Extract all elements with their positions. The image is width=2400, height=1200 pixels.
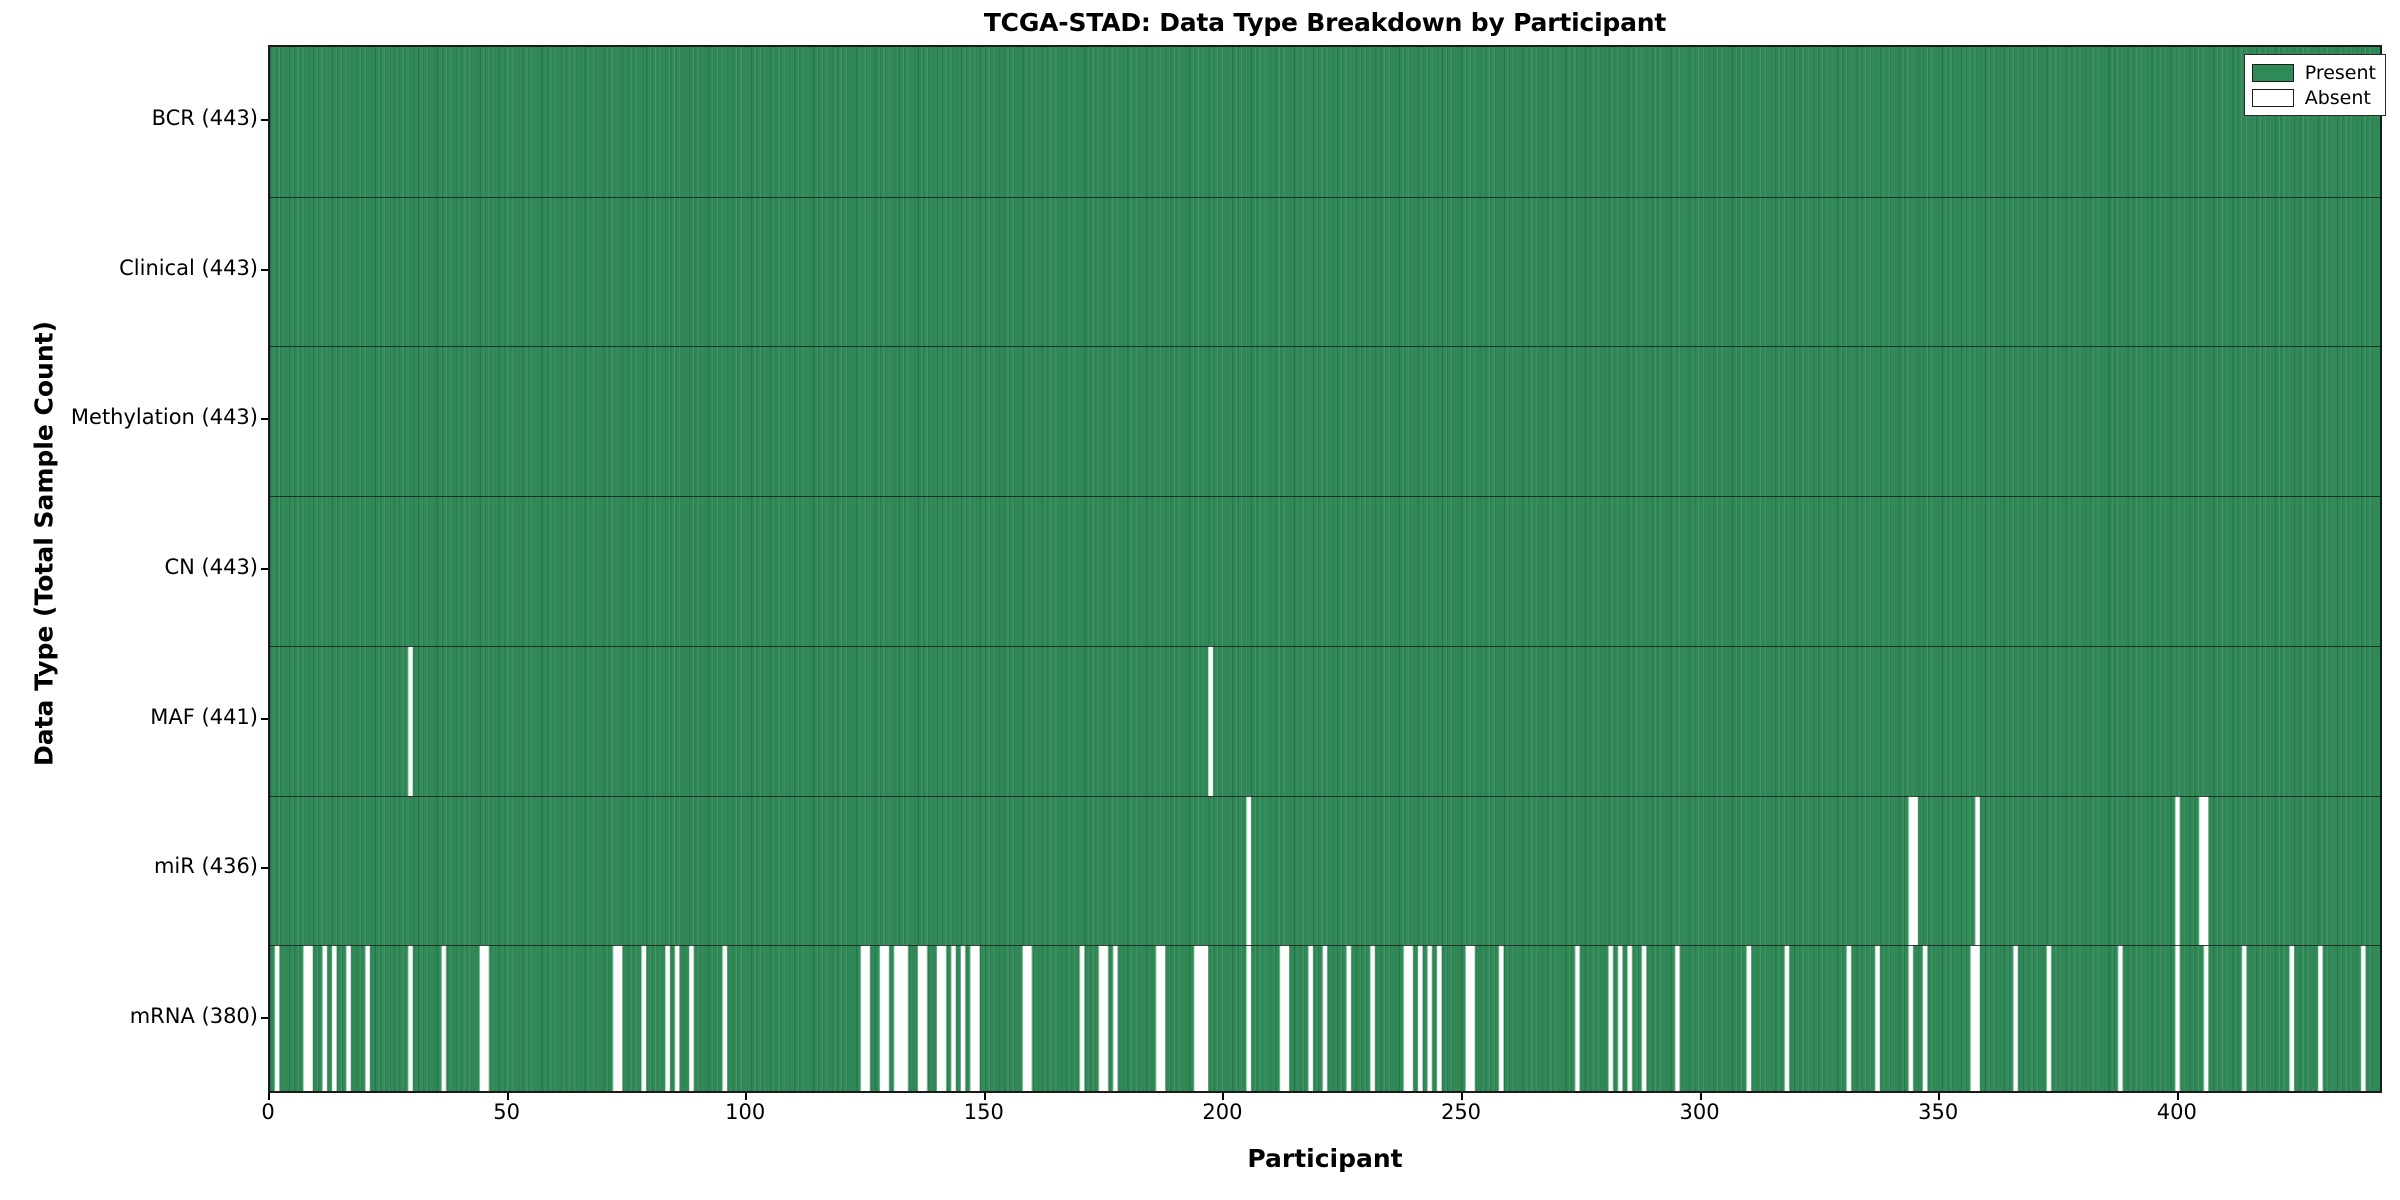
- x-tick-label: 200: [1162, 1100, 1282, 1124]
- y-tick-mark: [261, 418, 268, 420]
- heatmap-row: [270, 646, 2380, 796]
- y-tick-label: BCR (443): [0, 106, 258, 130]
- y-tick-label: mRNA (380): [0, 1004, 258, 1028]
- heatmap-row-canvas: [270, 346, 2380, 496]
- x-tick-label: 300: [1640, 1100, 1760, 1124]
- x-tick-mark: [1461, 1093, 1463, 1100]
- y-axis-title: Data Type (Total Sample Count): [30, 244, 59, 844]
- heatmap-row-canvas: [270, 796, 2380, 946]
- x-tick-mark: [1938, 1093, 1940, 1100]
- y-tick-label: miR (436): [0, 854, 258, 878]
- y-tick-label: Clinical (443): [0, 256, 258, 280]
- row-separator: [270, 945, 2380, 946]
- legend-label-absent: Absent: [2305, 87, 2371, 109]
- row-separator: [270, 496, 2380, 497]
- heatmap-row: [270, 796, 2380, 946]
- x-tick-mark: [2177, 1093, 2179, 1100]
- y-tick-label: CN (443): [0, 555, 258, 579]
- page-title: TCGA-STAD: Data Type Breakdown by Partic…: [268, 8, 2382, 37]
- plot-area: [268, 45, 2382, 1093]
- x-tick-label: 250: [1401, 1100, 1521, 1124]
- x-tick-mark: [1700, 1093, 1702, 1100]
- y-tick-mark: [261, 269, 268, 271]
- x-tick-label: 350: [1878, 1100, 1998, 1124]
- heatmap-row: [270, 346, 2380, 496]
- heatmap-row-canvas: [270, 945, 2380, 1093]
- row-separator: [270, 796, 2380, 797]
- row-separator: [270, 346, 2380, 347]
- y-tick-mark: [261, 1017, 268, 1019]
- x-tick-label: 150: [924, 1100, 1044, 1124]
- heatmap-row: [270, 496, 2380, 646]
- legend-swatch-absent: [2252, 89, 2294, 107]
- x-tick-label: 0: [208, 1100, 328, 1124]
- x-tick-mark: [1222, 1093, 1224, 1100]
- heatmap-row-canvas: [270, 197, 2380, 347]
- heatmap-row: [270, 945, 2380, 1093]
- x-tick-mark: [745, 1093, 747, 1100]
- x-axis-title: Participant: [268, 1144, 2382, 1173]
- x-tick-label: 400: [2117, 1100, 2237, 1124]
- x-tick-label: 50: [447, 1100, 567, 1124]
- row-separator: [270, 197, 2380, 198]
- row-separator: [270, 646, 2380, 647]
- chart-figure: TCGA-STAD: Data Type Breakdown by Partic…: [0, 0, 2400, 1200]
- y-tick-mark: [261, 867, 268, 869]
- y-tick-mark: [261, 119, 268, 121]
- heatmap-row: [270, 197, 2380, 347]
- x-tick-mark: [507, 1093, 509, 1100]
- heatmap-row: [270, 47, 2380, 197]
- x-tick-label: 100: [685, 1100, 805, 1124]
- heatmap-row-canvas: [270, 47, 2380, 197]
- legend-item-absent: Absent: [2252, 85, 2376, 110]
- heatmap-row-canvas: [270, 646, 2380, 796]
- y-tick-label: MAF (441): [0, 705, 258, 729]
- x-tick-mark: [268, 1093, 270, 1100]
- legend-item-present: Present: [2252, 60, 2376, 85]
- legend-swatch-present: [2252, 64, 2294, 82]
- heatmap-row-canvas: [270, 496, 2380, 646]
- legend-label-present: Present: [2305, 62, 2376, 84]
- y-tick-mark: [261, 718, 268, 720]
- y-tick-mark: [261, 568, 268, 570]
- x-tick-mark: [984, 1093, 986, 1100]
- y-tick-label: Methylation (443): [0, 405, 258, 429]
- chart-legend: Present Absent: [2244, 54, 2386, 116]
